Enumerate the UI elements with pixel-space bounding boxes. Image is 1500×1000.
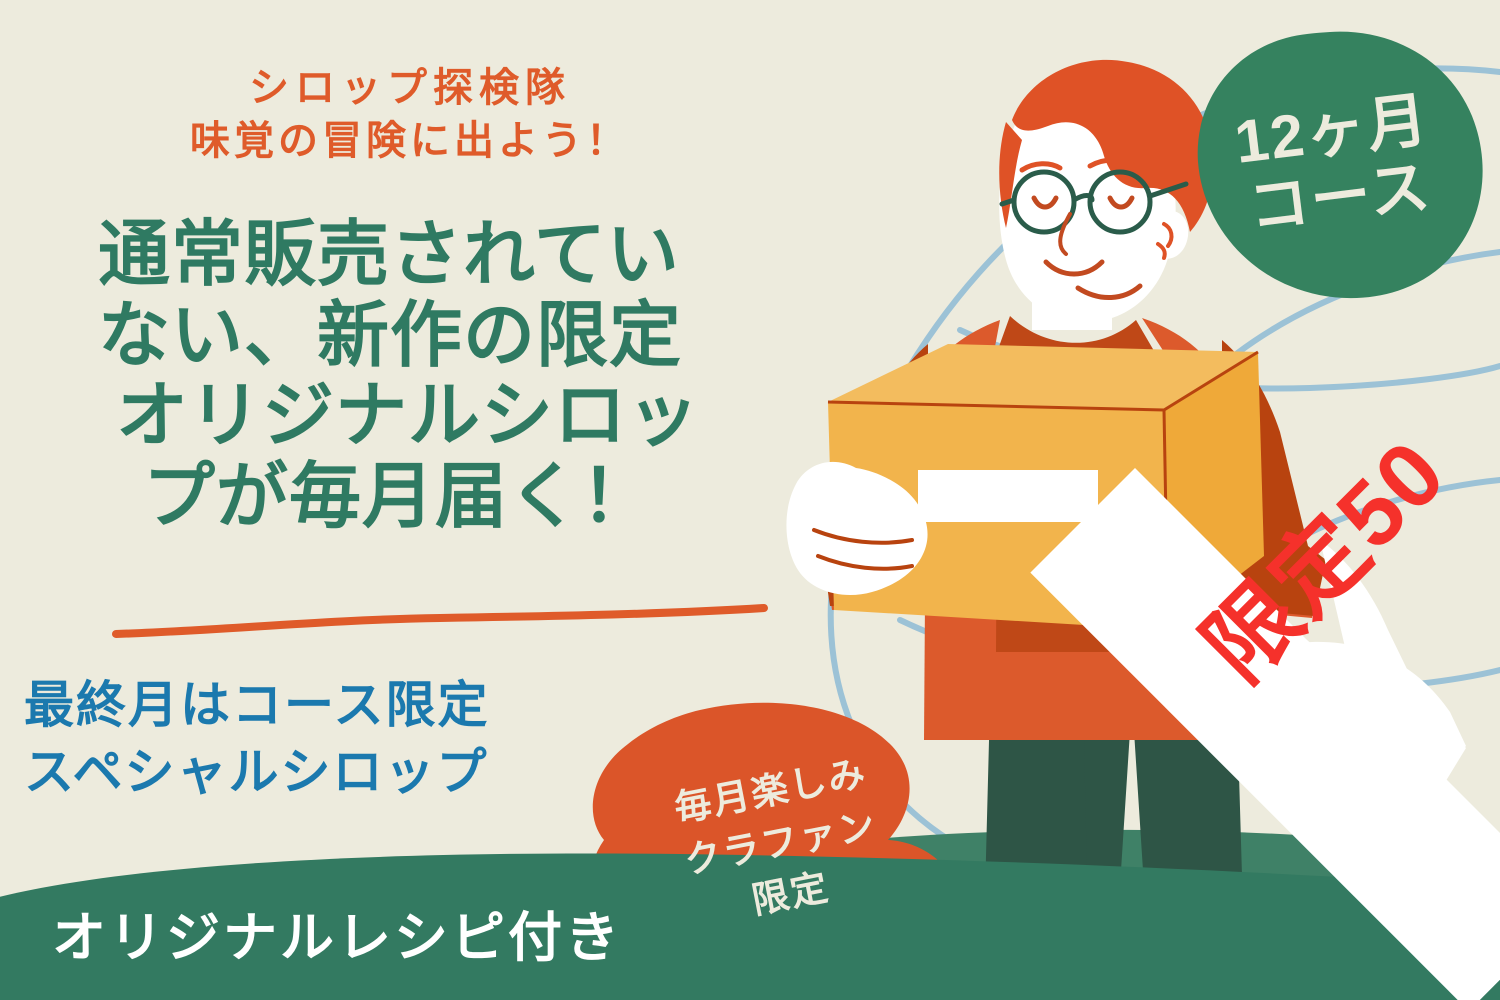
- course-badge: 12ヶ月 コース: [1188, 28, 1484, 300]
- eyebrow-copy: シロップ探検隊 味覚の冒険に出よう！: [60, 62, 760, 168]
- eyebrow-line-1: シロップ探検隊: [60, 62, 760, 115]
- headline-line-3: オリジナルシロッ: [98, 376, 798, 457]
- headline-line-4: プが毎月届く！: [98, 457, 798, 538]
- headline-line-1: 通常販売されてい: [98, 215, 798, 296]
- crowdfunding-blob: 毎月楽しみ クラファン 限定: [588, 700, 968, 1000]
- page-title: 通常販売されてい ない、新作の限定 オリジナルシロッ プが毎月届く！: [98, 215, 798, 538]
- divider-line: [110, 600, 770, 646]
- bottom-bar-label: オリジナルレシピ付き: [52, 893, 622, 972]
- promo-banner: シロップ探検隊 味覚の冒険に出よう！ 通常販売されてい ない、新作の限定 オリジ…: [0, 0, 1500, 1000]
- course-badge-text: 12ヶ月 コース: [1173, 11, 1500, 317]
- headline-line-2: ない、新作の限定: [98, 296, 798, 377]
- eyebrow-line-2: 味覚の冒険に出よう！: [60, 115, 760, 168]
